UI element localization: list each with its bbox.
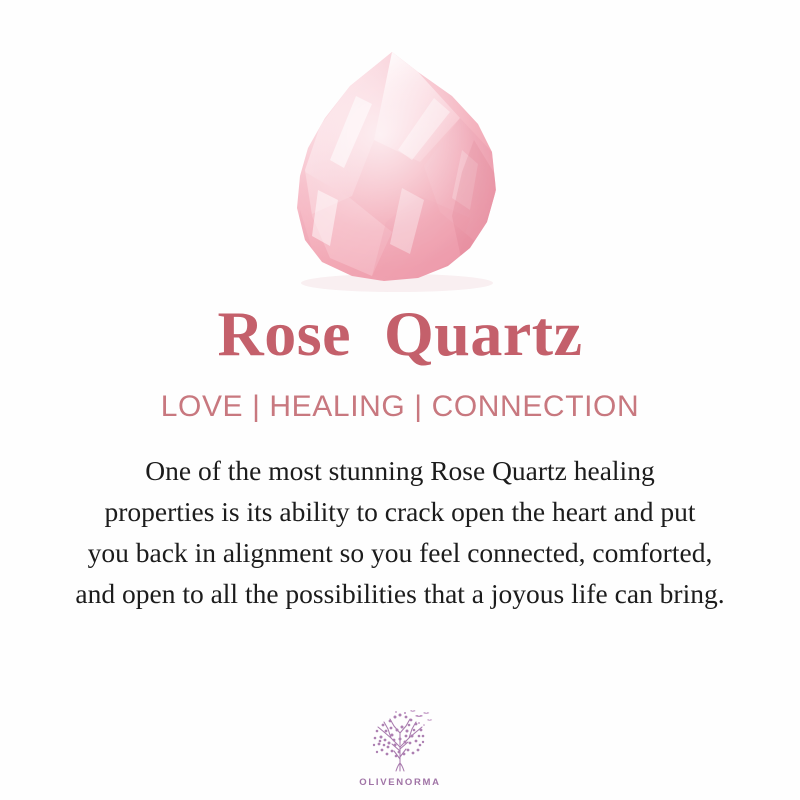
brand-logo: OLIVENORMA bbox=[0, 707, 800, 788]
description-line: you back in alignment so you feel connec… bbox=[20, 532, 780, 573]
description-line: and open to all the possibilities that a… bbox=[20, 573, 780, 614]
brand-name: OLIVENORMA bbox=[359, 777, 440, 788]
product-image-container bbox=[0, 0, 800, 300]
product-keywords: LOVE | HEALING | CONNECTION bbox=[161, 392, 640, 422]
product-description: One of the most stunning Rose Quartz hea… bbox=[20, 450, 780, 614]
page-title: Rose Quartz bbox=[217, 300, 582, 368]
crystal-facets bbox=[280, 40, 520, 290]
description-line: One of the most stunning Rose Quartz hea… bbox=[20, 450, 780, 491]
description-line: properties is its ability to crack open … bbox=[20, 491, 780, 532]
tree-of-life-icon bbox=[361, 707, 439, 775]
rose-quartz-crystal-image bbox=[0, 0, 800, 300]
product-info-card: Rose Quartz LOVE | HEALING | CONNECTION … bbox=[0, 0, 800, 800]
flying-birds-icon bbox=[395, 710, 432, 726]
tree-foliage bbox=[373, 714, 425, 758]
crystal-glow bbox=[280, 40, 520, 290]
